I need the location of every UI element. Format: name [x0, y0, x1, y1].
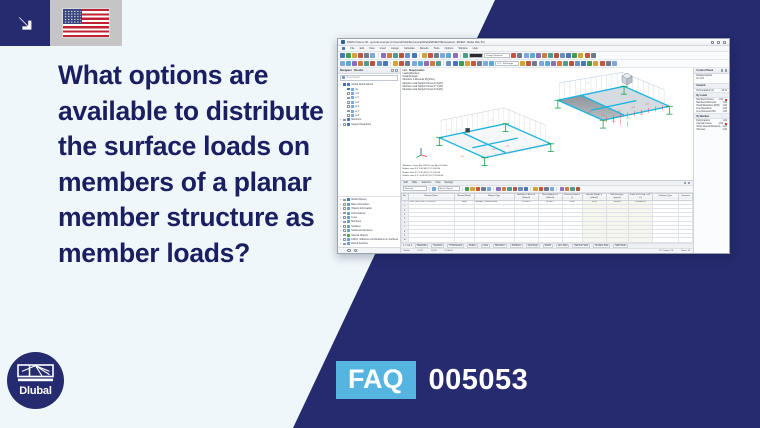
tree-checkbox[interactable] [343, 243, 346, 246]
toolbar-icon[interactable] [383, 61, 388, 66]
arrow-down-right-icon [14, 12, 36, 34]
tree-item-icon [347, 242, 350, 245]
tree-item-icon [351, 114, 354, 117]
svg-text:2: 2 [491, 120, 492, 122]
toolbar-icon[interactable] [459, 61, 464, 66]
arrow-down-right-badge[interactable] [0, 0, 50, 46]
tree-checkbox[interactable] [347, 105, 350, 108]
table-toolbar-icon[interactable] [465, 187, 469, 191]
toolbar-icon[interactable] [358, 61, 363, 66]
print-icon[interactable] [358, 53, 363, 58]
navigator-footer-toolbar[interactable] [338, 247, 400, 253]
toolbar-icon[interactable] [554, 53, 559, 58]
table-toolbar-icon[interactable] [513, 187, 517, 191]
pin-icon[interactable] [721, 69, 723, 71]
tree-expander-icon[interactable]: - [340, 83, 343, 86]
toolbar-icon[interactable] [575, 61, 580, 66]
tree-checkbox[interactable] [343, 229, 346, 232]
toolbar-icon[interactable] [430, 61, 435, 66]
toolbar-icon[interactable] [606, 61, 611, 66]
tree-expander-icon[interactable]: + [340, 238, 343, 241]
tree-item-icon [347, 234, 350, 237]
toolbar-icon[interactable] [446, 61, 451, 66]
status-row-item: CO0001 [445, 250, 453, 252]
tree-expander-icon[interactable]: + [340, 220, 343, 223]
zoom-in-icon[interactable] [428, 53, 433, 58]
table-header-cell[interactable]: Material Name [408, 193, 454, 200]
toolbar-icon[interactable] [526, 61, 531, 66]
filter-select[interactable]: Basic Objects [438, 186, 460, 191]
toolbar-primary[interactable]: Design Situations [338, 52, 729, 60]
table-tab-solids[interactable]: Solids [543, 244, 553, 248]
toolbar-icon[interactable] [520, 61, 525, 66]
menu-item-assign[interactable]: Assign [391, 47, 399, 50]
table-header-cell[interactable]: Specific Weight γ [kN/m3] [582, 193, 606, 200]
menu-app-icon [342, 47, 345, 50]
menu-item-options[interactable]: Options [444, 47, 453, 50]
tree-checkbox[interactable] [343, 216, 346, 219]
table-toolbar-icon[interactable] [565, 187, 569, 191]
toolbar-icon[interactable] [418, 61, 423, 66]
tree-item-icon [347, 198, 350, 201]
table-toolbar-icon[interactable] [476, 187, 480, 191]
control-panel-row-value: 1.00 [723, 102, 727, 104]
table-pager[interactable]: 1 / 1 of 1 [403, 245, 412, 247]
toolbar-secondary[interactable]: LC1 - Self-weight [338, 60, 729, 68]
toolbar-icon[interactable] [557, 61, 562, 66]
table-cell[interactable] [652, 238, 678, 242]
toolbar-icon[interactable] [405, 61, 410, 66]
toolbar-icon[interactable] [563, 61, 568, 66]
zoom-all-icon[interactable] [422, 53, 427, 58]
table-cell[interactable] [474, 238, 514, 242]
tree-item-label: Objects Information [351, 207, 372, 210]
tree-checkbox[interactable] [343, 225, 346, 228]
table-tab-sections[interactable]: Sections [431, 244, 444, 248]
svg-text:1: 1 [587, 83, 588, 85]
table-tab-solid-sets[interactable]: Solid Sets [613, 244, 627, 248]
tree-expander-icon[interactable]: + [340, 123, 343, 126]
navigator-tree-item[interactable]: +Support Reactions [340, 122, 399, 126]
table-header-cell[interactable]: Shear Modulus G [N/mm2] [538, 193, 562, 200]
toolbar-icon[interactable] [483, 61, 488, 66]
toolbar-icon[interactable] [548, 53, 553, 58]
minimize-icon[interactable] [711, 41, 714, 44]
toolbar-icon[interactable] [399, 61, 404, 66]
table-toolbar-icon[interactable] [518, 187, 522, 191]
tree-expander-icon[interactable]: + [340, 118, 343, 121]
tree-item-label: φ-Y [355, 110, 359, 113]
toolbar-icon[interactable] [585, 53, 590, 58]
tree-expander-icon[interactable]: + [340, 225, 343, 228]
pin-icon[interactable] [684, 182, 686, 184]
table-menu-selection[interactable]: Selection [421, 181, 431, 184]
tree-item-label: u-X [355, 92, 359, 95]
toolbar-icon[interactable] [424, 61, 429, 66]
zoom-out-icon[interactable] [434, 53, 439, 58]
control-panel-row-label: Members Forces [696, 99, 713, 101]
window-titlebar[interactable]: RFEM 6 Demo.rf6 - general example [C:\Us… [338, 39, 729, 46]
control-panel-groups[interactable]: GeneralDeformations [m]43.11By LoadsMemb… [694, 83, 729, 132]
tree-expander-icon[interactable]: + [340, 234, 343, 237]
faq-badge: FAQ [336, 361, 416, 399]
menu-item-results[interactable]: Results [420, 47, 429, 50]
panel-close-icon[interactable] [725, 69, 727, 71]
control-panel-row-value: 43.11 [721, 90, 727, 92]
tree-item-label: Lines [351, 216, 357, 219]
tree-item-label: |u| [355, 88, 358, 91]
toolbar-icon[interactable] [453, 61, 458, 66]
table-row-number: 10 [401, 238, 408, 242]
app-body: Navigator Results Enter Search -Global D… [338, 68, 729, 253]
table-toolbar-icon[interactable] [524, 187, 528, 191]
table-toolbar-icon[interactable] [560, 187, 564, 191]
toolbar-icon[interactable] [346, 61, 351, 66]
table-tab-surfaces[interactable]: Surfaces [510, 244, 523, 248]
tree-checkbox[interactable] [347, 88, 350, 91]
toolbar-icon[interactable] [517, 53, 522, 58]
tree-expander-icon[interactable]: + [340, 207, 343, 210]
control-panel-row-label: Internal Forces [696, 123, 711, 125]
expand-all-icon[interactable] [341, 249, 345, 253]
navigator-panel-controls[interactable] [391, 69, 397, 71]
tree-checkbox[interactable] [343, 221, 346, 224]
print-preview-icon[interactable] [364, 53, 369, 58]
copy-icon[interactable] [387, 53, 392, 58]
save-icon[interactable] [352, 53, 357, 58]
toolbar-icon[interactable] [542, 53, 547, 58]
page-title: What options are available to distribute… [58, 58, 333, 271]
tree-item-label: u-Z [355, 101, 359, 104]
table-header-cell[interactable]: Bulk Density ρ [kg/m3] [606, 193, 628, 200]
table-tab-member-sets[interactable]: Member Sets [572, 244, 590, 248]
control-panel-row-label: Line Reactions [696, 108, 711, 110]
toolbar-icon[interactable] [436, 61, 441, 66]
table-cell[interactable] [628, 238, 652, 242]
menu-item-window[interactable]: Window [458, 47, 467, 50]
tree-item-label: Special Objects [351, 234, 368, 237]
table-header-cell[interactable]: Comment [678, 193, 693, 200]
control-panel-title: Control Panel [696, 69, 713, 72]
rfem-app-icon [341, 40, 345, 44]
table-tab-nodes[interactable]: Nodes [467, 244, 478, 248]
status-rows: Rows: 14 [681, 250, 690, 252]
table-toolbar-icon[interactable] [470, 187, 474, 191]
tree-item-icon [347, 229, 350, 232]
toolbar-icon[interactable] [536, 53, 541, 58]
navigator-tree-lower[interactable]: +Model Objects+Base Information+Objects … [338, 196, 400, 247]
logo-text: Dlubal [19, 386, 51, 397]
open-icon[interactable] [346, 53, 351, 58]
maximize-icon[interactable] [717, 41, 720, 44]
object-select[interactable]: Structure [403, 186, 427, 191]
table-toolbar-icon[interactable] [544, 187, 548, 191]
svg-text:-2.4: -2.4 [460, 156, 464, 158]
language-flag-badge[interactable] [50, 0, 122, 46]
us-flag-icon [63, 9, 109, 37]
tree-item-icon [347, 207, 350, 210]
tree-expander-icon[interactable]: + [340, 229, 343, 232]
window-title: RFEM 6 Demo.rf6 - general example [C:\Us… [347, 41, 484, 44]
close-icon[interactable] [723, 41, 726, 44]
table-header-row: No. Material Name Material Model Materia… [401, 193, 693, 200]
table-header-cell[interactable]: Poisson's Ratio ν [-] [562, 193, 582, 200]
navigator-tab-navigator[interactable]: Navigator [340, 69, 352, 72]
table-toolbar-icon[interactable] [533, 187, 537, 191]
table-toolbar-icon[interactable] [487, 187, 491, 191]
control-panel-row[interactable]: Stresses1.00 [694, 128, 729, 131]
tree-checkbox[interactable] [347, 97, 350, 100]
tree-item-icon [347, 203, 350, 206]
slide-root: What options are available to distribute… [0, 0, 760, 428]
toolbar-icon[interactable] [572, 53, 577, 58]
toolbar-icon[interactable] [377, 61, 382, 66]
tree-checkbox[interactable] [343, 238, 346, 241]
tree-checkbox[interactable] [343, 83, 346, 86]
tree-item-label: u-Y [355, 96, 359, 99]
toolbar-icon[interactable] [581, 61, 586, 66]
toolbar-icon[interactable] [352, 61, 357, 66]
toolbar-icon[interactable] [340, 61, 345, 66]
table-tab-surface-sets[interactable]: Surface Sets [593, 244, 610, 248]
toolbar-icon[interactable] [591, 53, 596, 58]
new-row-icon[interactable] [432, 187, 436, 191]
structural-model-3d[interactable]: -2.4-2.4 -2.4-2.4 -2.4-2.4 -2.4-2.4 [401, 68, 694, 180]
render-transparent-icon[interactable] [412, 53, 417, 58]
table-tab-members[interactable]: Members [493, 244, 507, 248]
undo-icon[interactable] [370, 53, 375, 58]
tree-item-label: FRILO / Effective Combinations on Surfac… [351, 238, 398, 241]
toolbar-icon[interactable] [364, 61, 369, 66]
toolbar-icon[interactable] [489, 61, 494, 66]
tree-item-label: Members [351, 220, 361, 223]
tree-checkbox[interactable] [347, 101, 350, 104]
table-toolbar-icon[interactable] [570, 187, 574, 191]
table-cell[interactable] [606, 238, 628, 242]
toolbar-icon[interactable] [587, 61, 592, 66]
rotate-icon[interactable] [446, 53, 451, 58]
table-header-cell[interactable]: Modulus of Elast. E [N/mm2] [514, 193, 538, 200]
table-header-cell[interactable]: Material Model [454, 193, 474, 200]
dlubal-logo[interactable]: Dlubal [7, 352, 64, 409]
toolbar-icon[interactable] [569, 61, 574, 66]
tree-checkbox[interactable] [343, 207, 346, 210]
table-cell[interactable] [454, 238, 474, 242]
render-wire-icon[interactable] [405, 53, 410, 58]
table-toolbar-icon[interactable] [496, 187, 500, 191]
toolbar-icon[interactable] [566, 53, 571, 58]
table-tab-materials[interactable]: Materials [415, 244, 428, 248]
tree-expander-icon[interactable]: + [340, 216, 343, 219]
tree-item-label: Solids and Surfaces [351, 229, 372, 232]
svg-text:-2.4: -2.4 [611, 121, 615, 123]
control-panel-controls[interactable] [721, 69, 727, 71]
tree-item-label: φ-X [355, 105, 359, 108]
collapse-all-icon[interactable] [347, 249, 351, 253]
menu-item-edit[interactable]: Edit [360, 47, 364, 50]
table-toolbar-icon[interactable] [502, 187, 506, 191]
paste-icon[interactable] [393, 53, 398, 58]
toolbar-icon[interactable] [600, 61, 605, 66]
navigator-panel[interactable]: Navigator Results Enter Search -Global D… [338, 68, 401, 253]
control-panel-row-label: Nodal Reactions (P/M) [696, 105, 719, 107]
tree-checkbox[interactable] [343, 123, 346, 126]
table-header-cell[interactable]: Coeff. of Th. Exp. α [1/°C] [628, 193, 652, 200]
toolbar-icon[interactable] [370, 61, 375, 66]
toolbar-icon[interactable] [524, 53, 529, 58]
control-panel[interactable]: Control Panel Display Factors for LC1 Ge… [693, 68, 729, 253]
control-panel-row-value: 1.00 [719, 123, 723, 125]
model-viewport[interactable]: LC1 - Superposition Loads [Member] Nodal… [401, 68, 694, 180]
navigator-filter-input[interactable]: Enter Search [340, 75, 399, 81]
table-cell[interactable] [562, 238, 582, 242]
control-panel-row-label: Deformations [m] [696, 90, 714, 92]
toolbar-icon[interactable] [471, 61, 476, 66]
table-toolbar-icon[interactable] [481, 187, 485, 191]
menu-item-view[interactable]: View [369, 47, 375, 50]
faq-line: FAQ 005053 [336, 361, 528, 399]
tree-item-label: Deformations [351, 212, 365, 215]
table-menu-settings[interactable]: Settings [444, 181, 453, 184]
tree-expander-icon[interactable]: + [340, 198, 343, 201]
toolbar-icon[interactable] [532, 61, 537, 66]
control-panel-row-value: 1.00 [723, 120, 727, 122]
grid-icon[interactable] [463, 53, 468, 58]
table-header-cell[interactable]: Material Type [474, 193, 514, 200]
table-header-rownum: No. [401, 193, 408, 200]
table-menu-view[interactable]: View [435, 181, 440, 184]
table-cell[interactable] [582, 238, 606, 242]
toolbar-icon[interactable] [578, 53, 583, 58]
toolbar-icon[interactable] [465, 61, 470, 66]
control-panel-row-label: Deformations [696, 120, 710, 122]
tree-item-label: Members [351, 118, 361, 121]
toolbar-icon[interactable] [412, 61, 417, 66]
navigator-tree[interactable]: -Global Deformations|u|u-Xu-Yu-Zφ-Xφ-Yφ-… [338, 82, 400, 196]
table-tab-lines[interactable]: Lines [481, 244, 491, 248]
new-icon[interactable] [340, 53, 345, 58]
tree-checkbox[interactable] [343, 234, 346, 237]
pan-icon[interactable] [440, 53, 445, 58]
table-toolbar-icon[interactable] [539, 187, 543, 191]
menu-item-help[interactable]: Help [473, 47, 478, 50]
measure-icon[interactable] [453, 53, 458, 58]
tree-checkbox[interactable] [343, 212, 346, 215]
settings-icon[interactable] [360, 249, 364, 253]
toolbar-icon[interactable] [393, 61, 398, 66]
toolbar-icon[interactable] [539, 61, 544, 66]
toolbar-icon[interactable] [511, 53, 516, 58]
tree-checkbox[interactable] [347, 114, 350, 117]
table-tab-openings[interactable]: Openings [526, 244, 540, 248]
tree-checkbox[interactable] [343, 203, 346, 206]
panel-close-icon[interactable] [688, 182, 690, 184]
table-tab-thicknesses[interactable]: Thicknesses [447, 244, 464, 248]
tree-item-label: Result Sections [351, 242, 368, 245]
menu-item-calculate[interactable]: Calculate [404, 47, 415, 50]
status-bar: Model LC01 CO00 CO0001 CC Output: Off Ro… [401, 248, 694, 253]
table-panel[interactable]: Edit Table Selection View Settings Struc… [401, 180, 694, 253]
table-row-empty[interactable]: 10 [401, 238, 693, 242]
tree-expander-icon[interactable]: + [340, 212, 343, 215]
table-toolbar-icon[interactable] [550, 187, 554, 191]
tree-expander-icon[interactable]: + [340, 203, 343, 206]
table-cell[interactable] [678, 238, 693, 242]
control-panel-row-value: 1.00 [723, 126, 727, 128]
control-panel-row-label: Other Internal Moments [696, 126, 720, 128]
tree-item-icon [347, 225, 350, 228]
materials-table[interactable]: No. Material Name Material Model Materia… [401, 193, 694, 243]
table-toolbar-icon[interactable] [576, 187, 580, 191]
tree-checkbox[interactable] [343, 199, 346, 202]
navigator-tab-results[interactable]: Results [354, 69, 363, 72]
table-cell[interactable] [538, 238, 562, 242]
window-controls[interactable] [711, 41, 726, 44]
table-menu-edit[interactable]: Edit [404, 181, 408, 184]
table-cell[interactable] [408, 238, 454, 242]
tree-item-icon [347, 216, 350, 219]
pin-icon[interactable] [391, 69, 393, 71]
cut-icon[interactable] [381, 53, 386, 58]
control-panel-row-label: Line Moments P/M [696, 111, 715, 113]
view-cube-icon[interactable] [619, 71, 635, 87]
toolbar-icon[interactable] [477, 61, 482, 66]
tree-item-icon [351, 110, 354, 113]
table-toolbar-icon[interactable] [507, 187, 511, 191]
refresh-icon[interactable] [354, 249, 358, 253]
toolbar-icon[interactable] [560, 53, 565, 58]
control-panel-subtitle: Display Factors for LC1 [694, 74, 729, 83]
control-panel-row-value: 1.00 [723, 129, 727, 131]
panel-close-icon[interactable] [395, 69, 397, 71]
toolbar-icon[interactable] [551, 61, 556, 66]
control-panel-row-value: 1.00 [723, 111, 727, 113]
tree-item-icon [347, 118, 350, 121]
menu-item-tools[interactable]: Tools [433, 47, 439, 50]
load-case-select[interactable]: LC1 - Self-weight [495, 61, 519, 66]
menu-item-file[interactable]: File [350, 47, 354, 50]
table-panel-controls[interactable] [684, 182, 690, 184]
design-situation-select[interactable] [469, 53, 483, 58]
table-menu-table[interactable]: Table [412, 181, 418, 184]
table-tab-line-sets[interactable]: Line Sets [556, 244, 570, 248]
rfem-application-window[interactable]: RFEM 6 Demo.rf6 - general example [C:\Us… [337, 38, 730, 254]
design-situation-label[interactable]: Design Situations [484, 53, 510, 58]
toolbar-icon[interactable] [612, 61, 617, 66]
tree-item-label: Surfaces [351, 225, 360, 228]
navigator-tree-item[interactable]: +Result Sections [340, 242, 399, 246]
status-row-item: LC01 [418, 250, 423, 252]
tree-checkbox[interactable] [343, 119, 346, 122]
control-panel-subtitle-line: for LC1 [696, 78, 727, 81]
table-cell[interactable] [514, 238, 538, 242]
tree-item-icon [347, 212, 350, 215]
render-solid-icon[interactable] [399, 53, 404, 58]
menu-item-insert[interactable]: Insert [380, 47, 387, 50]
toolbar-icon[interactable] [545, 61, 550, 66]
control-panel-row-swatch [725, 123, 727, 125]
navigator-filter-placeholder: Enter Search [347, 77, 360, 79]
tree-checkbox[interactable] [347, 110, 350, 113]
navigator-header[interactable]: Navigator Results [338, 68, 400, 74]
tree-expander-icon[interactable]: + [340, 242, 343, 245]
table-header-cell[interactable]: Definition Type [652, 193, 678, 200]
tree-checkbox[interactable] [347, 92, 350, 95]
tree-item-icon [347, 220, 350, 223]
toolbar-icon[interactable] [593, 61, 598, 66]
toolbar-icon[interactable] [530, 53, 535, 58]
tree-item-icon [351, 92, 354, 95]
